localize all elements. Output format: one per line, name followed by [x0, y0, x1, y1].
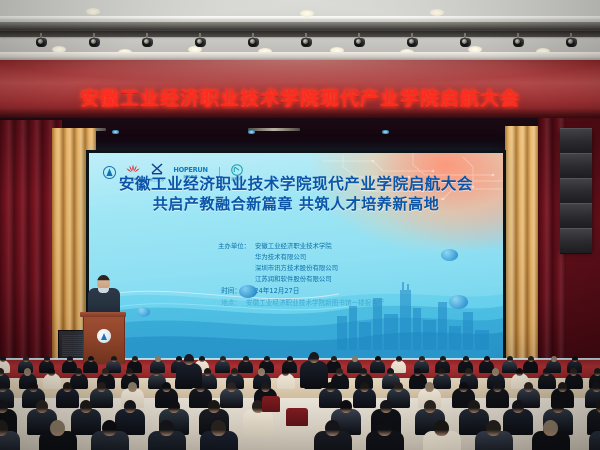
headline-main: 安徽工业经济职业技术学院现代产业学院启航大会	[89, 175, 503, 194]
audience-head	[558, 382, 567, 392]
audience-member	[423, 420, 461, 450]
audience-head	[325, 420, 340, 436]
audience-head	[159, 420, 174, 436]
organizer-row: 主办单位：安徽工业经济职业技术学院	[198, 241, 394, 252]
line-array-speaker-right	[560, 128, 592, 250]
audience-head	[0, 382, 7, 392]
audience-member	[475, 420, 513, 450]
stage-spotlight	[195, 33, 206, 47]
stage-spotlight	[142, 33, 153, 47]
headline-sub: 共启产教融合新篇章 共筑人才培养新高地	[89, 194, 503, 214]
standing-attendee	[300, 352, 328, 388]
audience-head	[0, 368, 4, 376]
audience-head	[596, 400, 600, 413]
audience-head	[227, 382, 236, 392]
audience-head	[336, 368, 343, 376]
audience-head	[208, 400, 220, 413]
audience-head	[204, 368, 211, 376]
spotlight-lens	[197, 39, 202, 44]
audience-head	[468, 400, 480, 413]
audience-member	[589, 420, 600, 450]
audience-head	[394, 382, 403, 392]
audience-member	[0, 420, 20, 450]
speaker-box	[560, 178, 592, 204]
audience-head	[465, 368, 472, 376]
spotlight-lens	[568, 39, 573, 44]
ceiling-light	[300, 10, 314, 17]
conference-hall-photo: 安徽工业经济职业技术学院现代产业学院启航大会	[0, 0, 600, 450]
audience-head	[287, 356, 293, 362]
stage-spotlight	[36, 33, 47, 47]
spotlight-lens	[356, 39, 361, 44]
stage-spotlight	[354, 33, 365, 47]
audience-head	[484, 356, 490, 362]
bubble-decoration	[137, 307, 150, 317]
bubble-decoration	[239, 285, 257, 298]
recess-indicator-3	[382, 130, 389, 134]
audience-head	[512, 400, 524, 413]
audience-head	[419, 356, 425, 362]
audience-head	[459, 382, 468, 392]
screen-wave-decoration	[89, 268, 503, 360]
organizer-label	[198, 252, 250, 263]
audience-head	[220, 356, 226, 362]
spotlight-lens	[38, 39, 43, 44]
audience-head	[132, 356, 138, 362]
audience-head	[67, 356, 73, 362]
audience-head	[44, 356, 50, 362]
audience-head	[340, 400, 352, 413]
organizer-row: 华为技术有限公司	[198, 252, 394, 263]
ceiling-seam	[0, 16, 600, 19]
audience-head	[264, 356, 270, 362]
screen-headline-block: 安徽工业经济职业技术学院现代产业学院启航大会 共启产教融合新篇章 共筑人才培养新…	[89, 175, 503, 214]
audience-head	[24, 368, 31, 376]
audience-head	[572, 356, 578, 362]
audience-head	[360, 368, 367, 376]
audience-head	[153, 368, 160, 376]
audience-head	[352, 356, 358, 362]
audience-head	[543, 420, 558, 436]
speaker-box	[560, 128, 592, 154]
audience-head	[425, 382, 434, 392]
audience-head	[387, 368, 394, 376]
audience-head	[243, 356, 249, 362]
stage-spotlight	[460, 33, 471, 47]
audience-member	[366, 420, 404, 450]
audience-head	[258, 368, 265, 376]
bubble-decoration	[441, 249, 458, 261]
speaker-box	[560, 153, 592, 179]
audience-member	[91, 420, 129, 450]
audience-head	[592, 382, 600, 392]
audience-head	[507, 356, 513, 362]
audience-head	[88, 356, 94, 362]
audience-body	[300, 361, 328, 388]
audience-head	[414, 368, 421, 376]
audience-head	[0, 356, 6, 362]
audience-head	[594, 368, 600, 376]
hoperun-wordmark: HOPERUN	[173, 166, 207, 174]
emblem-triangle-icon	[101, 333, 107, 340]
audience-head	[23, 356, 29, 362]
audience-body	[176, 363, 202, 388]
standing-attendee	[176, 354, 202, 388]
audience-member	[532, 420, 570, 450]
audience-head	[309, 352, 319, 363]
audience-head	[126, 368, 133, 376]
audience-head	[29, 382, 38, 392]
audience-head	[111, 356, 117, 362]
organizer-name: 华为技术有限公司	[250, 252, 306, 263]
audience-head	[211, 420, 226, 436]
audience-head	[162, 382, 171, 392]
spotlight-lens	[515, 39, 520, 44]
led-screen-content: HUAWEI 讯方技术 HOPERUN 润和教育	[89, 153, 503, 360]
organizer-name: 安徽工业经济职业技术学院	[250, 241, 332, 252]
audience-head	[375, 356, 381, 362]
audience-head	[493, 382, 502, 392]
audience-head	[528, 356, 534, 362]
audience-head	[440, 356, 446, 362]
ceiling-light	[86, 8, 100, 15]
spotlight-lens	[409, 39, 414, 44]
audience-head	[63, 382, 72, 392]
audience-head	[524, 382, 533, 392]
audience-head	[434, 420, 449, 436]
audience-head	[128, 382, 137, 392]
audience-head	[231, 368, 238, 376]
stage-spotlight	[248, 33, 259, 47]
recess-indicator-2	[248, 130, 255, 134]
audience-head	[261, 382, 270, 392]
audience-head	[50, 420, 65, 436]
auditorium-seat	[286, 408, 308, 426]
audience-head	[438, 368, 445, 376]
audience-head	[380, 400, 392, 413]
speaker-box	[560, 228, 592, 254]
audience-member	[277, 368, 295, 391]
audience-head	[184, 354, 194, 365]
audience-head	[570, 368, 577, 376]
audience-head	[282, 368, 289, 376]
audience-head	[486, 420, 501, 436]
audience-head	[492, 368, 499, 376]
ceiling-light	[430, 9, 444, 16]
stage-spotlight	[89, 33, 100, 47]
audience-head	[377, 420, 392, 436]
podium-school-emblem	[97, 329, 111, 343]
audience-seating	[0, 352, 600, 450]
organizer-label: 主办单位：	[198, 241, 250, 252]
bubble-decoration	[449, 295, 468, 309]
audience-head	[331, 356, 337, 362]
speaker-box	[560, 203, 592, 229]
runhe-circle-icon	[231, 164, 243, 176]
audience-head	[102, 420, 117, 436]
audience-head	[424, 400, 436, 413]
audience-head	[552, 400, 564, 413]
led-screen: HUAWEI 讯方技术 HOPERUN 润和教育	[86, 150, 506, 363]
auditorium-seat	[262, 396, 280, 412]
recess-indicator-1	[112, 130, 119, 134]
audience-member	[200, 420, 238, 450]
spotlight-lens	[91, 39, 96, 44]
audience-head	[516, 368, 523, 376]
spotlight-lens	[144, 39, 149, 44]
audience-head	[48, 368, 55, 376]
audience-head	[80, 400, 92, 413]
presenter-speaker	[86, 275, 122, 317]
audience-head	[124, 400, 136, 413]
stage-spotlight	[301, 33, 312, 47]
audience-member	[148, 420, 186, 450]
audience-head	[102, 368, 109, 376]
stage-spotlight	[407, 33, 418, 47]
audience-member	[39, 420, 77, 450]
audience-head	[155, 356, 161, 362]
audience-head	[396, 356, 402, 362]
recess-device-center	[248, 128, 300, 131]
spotlight-lens	[303, 39, 308, 44]
audience-member	[314, 420, 352, 450]
spotlight-lens	[462, 39, 467, 44]
audience-head	[168, 400, 180, 413]
audience-body	[589, 431, 600, 450]
audience-head	[463, 356, 469, 362]
audience-head	[36, 400, 48, 413]
spotlight-lens	[250, 39, 255, 44]
audience-head	[360, 382, 369, 392]
stage-spotlight	[566, 33, 577, 47]
stage-spotlight	[513, 33, 524, 47]
audience-head	[97, 382, 106, 392]
ceiling-ledge	[0, 52, 600, 60]
audience-head	[551, 356, 557, 362]
audience-head	[543, 368, 550, 376]
audience-head	[75, 368, 82, 376]
